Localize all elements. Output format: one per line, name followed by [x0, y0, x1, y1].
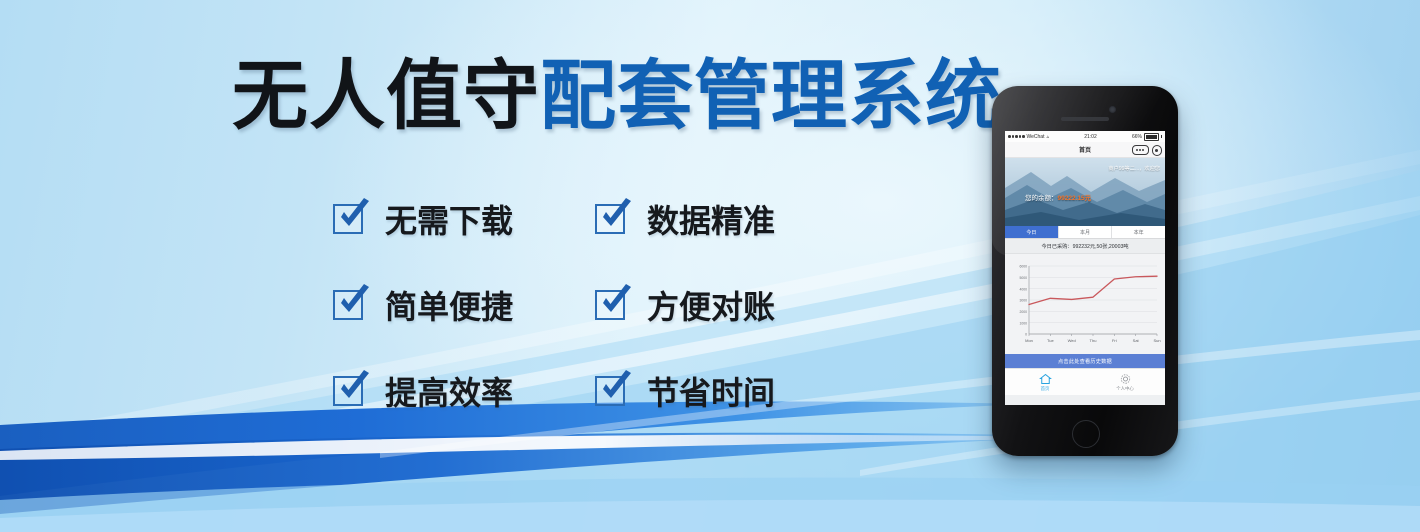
svg-text:Tue: Tue — [1047, 338, 1055, 343]
home-button[interactable] — [1072, 420, 1100, 448]
purchase-line-chart: 0100020003000400050006000MonTueWedThuFri… — [1005, 254, 1165, 354]
checkbox-checked-icon — [333, 288, 371, 322]
svg-text:1000: 1000 — [1019, 321, 1027, 325]
wechat-close-icon[interactable] — [1152, 145, 1163, 156]
page-title: 无人值守配套管理系统 — [232, 47, 952, 147]
balance-row: 您的余额：99222.15元 — [1025, 192, 1091, 202]
gear-icon — [1119, 373, 1132, 385]
bottom-nav-home-label: 首页 — [1041, 386, 1050, 392]
svg-text:5000: 5000 — [1019, 276, 1027, 280]
feature-item-2: 简单便捷 — [333, 262, 595, 348]
front-camera-icon — [1109, 106, 1116, 113]
svg-text:Fri: Fri — [1112, 338, 1117, 343]
title-part-blue: 配套管理系统 — [540, 54, 1002, 139]
checkbox-checked-icon — [595, 288, 633, 322]
carrier-label: WeChat — [1027, 134, 1045, 140]
svg-text:3000: 3000 — [1019, 299, 1027, 303]
nav-title: 首页 — [1079, 145, 1091, 154]
checkbox-checked-icon — [595, 374, 633, 408]
feature-list: 无需下载 数据精准 简单便捷 方便对账 — [333, 176, 853, 434]
checkbox-checked-icon — [595, 202, 633, 236]
battery-icon — [1144, 133, 1159, 141]
wechat-menu-icon[interactable] — [1132, 145, 1149, 155]
feature-item-4: 提高效率 — [333, 348, 595, 434]
period-tabs: 今日 本月 本年 — [1005, 226, 1165, 239]
feature-label: 无需下载 — [385, 196, 513, 242]
bottom-nav-profile[interactable]: 个人中心 — [1085, 369, 1165, 395]
view-history-button[interactable]: 点击此处查看历史数据 — [1005, 354, 1165, 368]
svg-text:2000: 2000 — [1019, 310, 1027, 314]
chart-svg: 0100020003000400050006000MonTueWedThuFri… — [1005, 254, 1165, 354]
greeting-text: 商户99等二...，欢迎您 — [1108, 165, 1160, 172]
svg-text:Sat: Sat — [1133, 338, 1140, 343]
feature-label: 简单便捷 — [385, 282, 513, 328]
svg-text:Mon: Mon — [1025, 338, 1033, 343]
feature-item-5: 节省时间 — [595, 348, 853, 434]
tab-today[interactable]: 今日 — [1005, 226, 1059, 238]
status-time: 21:02 — [1084, 134, 1097, 140]
feature-label: 提高效率 — [385, 368, 513, 414]
promo-banner: 无人值守配套管理系统 无需下载 数据精准 简单便捷 — [0, 0, 1420, 532]
feature-item-1: 数据精准 — [595, 176, 853, 262]
signal-dots-icon — [1008, 135, 1025, 138]
wifi-icon: ▵ — [1046, 134, 1049, 140]
feature-item-0: 无需下载 — [333, 176, 595, 262]
tab-month[interactable]: 本月 — [1059, 226, 1113, 238]
feature-label: 数据精准 — [647, 196, 775, 242]
feature-item-3: 方便对账 — [595, 262, 853, 348]
svg-text:Wed: Wed — [1068, 338, 1076, 343]
hero-banner: 商户99等二...，欢迎您 您的余额：99222.15元 — [1005, 158, 1165, 226]
nav-bar: 首页 — [1005, 142, 1165, 158]
phone-screen: WeChat ▵ 21:02 66% 首页 — [1005, 131, 1165, 405]
status-bar: WeChat ▵ 21:02 66% — [1005, 131, 1165, 142]
tab-year[interactable]: 本年 — [1112, 226, 1165, 238]
feature-label: 方便对账 — [647, 282, 775, 328]
svg-text:Thu: Thu — [1090, 338, 1097, 343]
balance-label: 您的余额： — [1025, 195, 1058, 202]
checkbox-checked-icon — [333, 374, 371, 408]
balance-value: 99222.15元 — [1058, 195, 1092, 202]
svg-text:6000: 6000 — [1019, 265, 1027, 269]
purchase-summary: 今日已采购：992232元,50张,20003吨 — [1005, 239, 1165, 254]
battery-percent: 66% — [1132, 134, 1142, 140]
svg-text:Sun: Sun — [1153, 338, 1160, 343]
checkbox-checked-icon — [333, 202, 371, 236]
bottom-nav-home[interactable]: 首页 — [1005, 369, 1085, 395]
title-part-dark: 无人值守 — [232, 54, 540, 139]
svg-text:0: 0 — [1025, 333, 1027, 337]
battery-cap-icon — [1161, 135, 1162, 138]
svg-text:4000: 4000 — [1019, 287, 1027, 291]
bottom-nav: 首页 个人中心 — [1005, 368, 1165, 395]
home-icon — [1039, 373, 1052, 385]
earpiece-speaker — [1061, 117, 1109, 121]
phone-mockup: WeChat ▵ 21:02 66% 首页 — [992, 86, 1178, 456]
feature-label: 节省时间 — [647, 368, 775, 414]
bottom-nav-profile-label: 个人中心 — [1116, 386, 1134, 392]
